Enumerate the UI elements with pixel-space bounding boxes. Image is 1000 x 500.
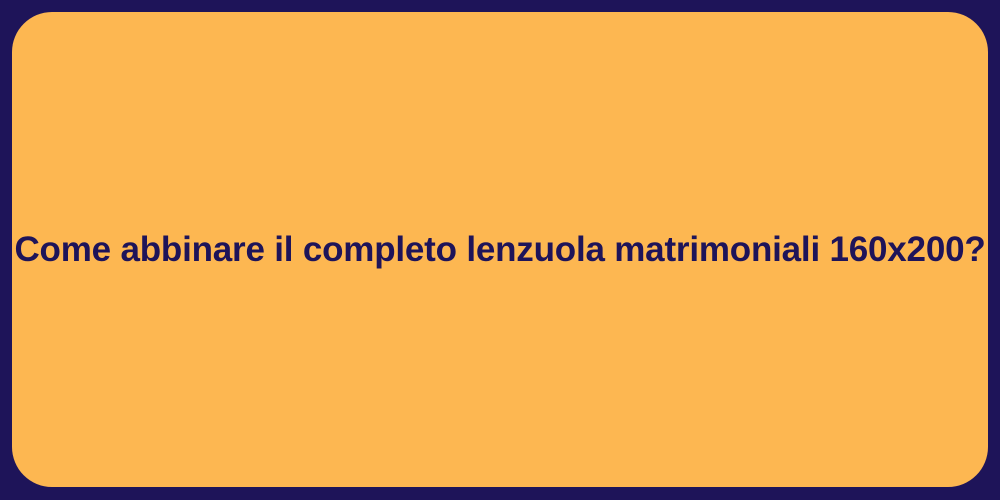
banner-panel: Come abbinare il completo lenzuola matri… [12,12,988,487]
banner-frame: Come abbinare il completo lenzuola matri… [0,0,1000,500]
page-title: Come abbinare il completo lenzuola matri… [12,228,988,272]
